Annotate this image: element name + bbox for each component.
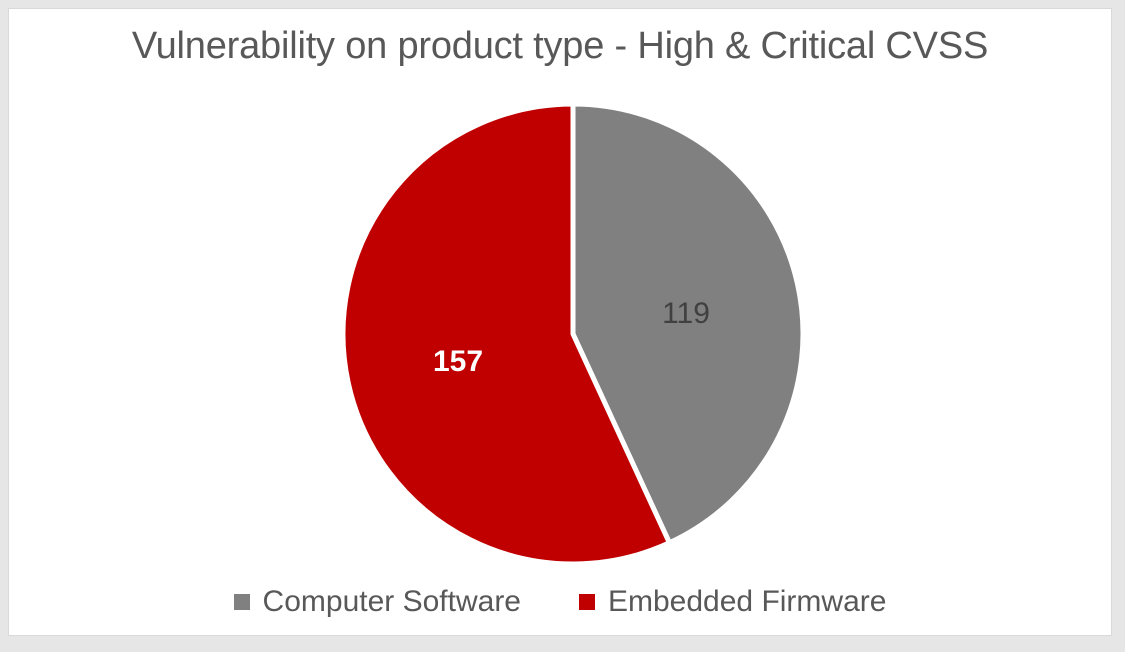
pie-data-label: 119 xyxy=(662,297,710,330)
pie-chart-svg: 119157 xyxy=(9,79,1112,569)
chart-title: Vulnerability on product type - High & C… xyxy=(9,25,1111,68)
chart-legend: Computer Software Embedded Firmware xyxy=(9,587,1111,617)
legend-swatch-icon-computer-software xyxy=(234,594,250,610)
legend-label-computer-software: Computer Software xyxy=(263,587,521,617)
pie-plot-area: 119157 xyxy=(9,79,1112,569)
pie-slices-group xyxy=(343,104,803,564)
legend-label-embedded-firmware: Embedded Firmware xyxy=(608,587,886,617)
chart-frame: Vulnerability on product type - High & C… xyxy=(8,8,1112,636)
legend-swatch-icon-embedded-firmware xyxy=(579,594,595,610)
legend-item-computer-software[interactable]: Computer Software xyxy=(234,587,521,617)
legend-item-embedded-firmware[interactable]: Embedded Firmware xyxy=(579,587,886,617)
pie-data-label: 157 xyxy=(433,345,483,378)
chart-screenshot: Vulnerability on product type - High & C… xyxy=(0,0,1125,652)
